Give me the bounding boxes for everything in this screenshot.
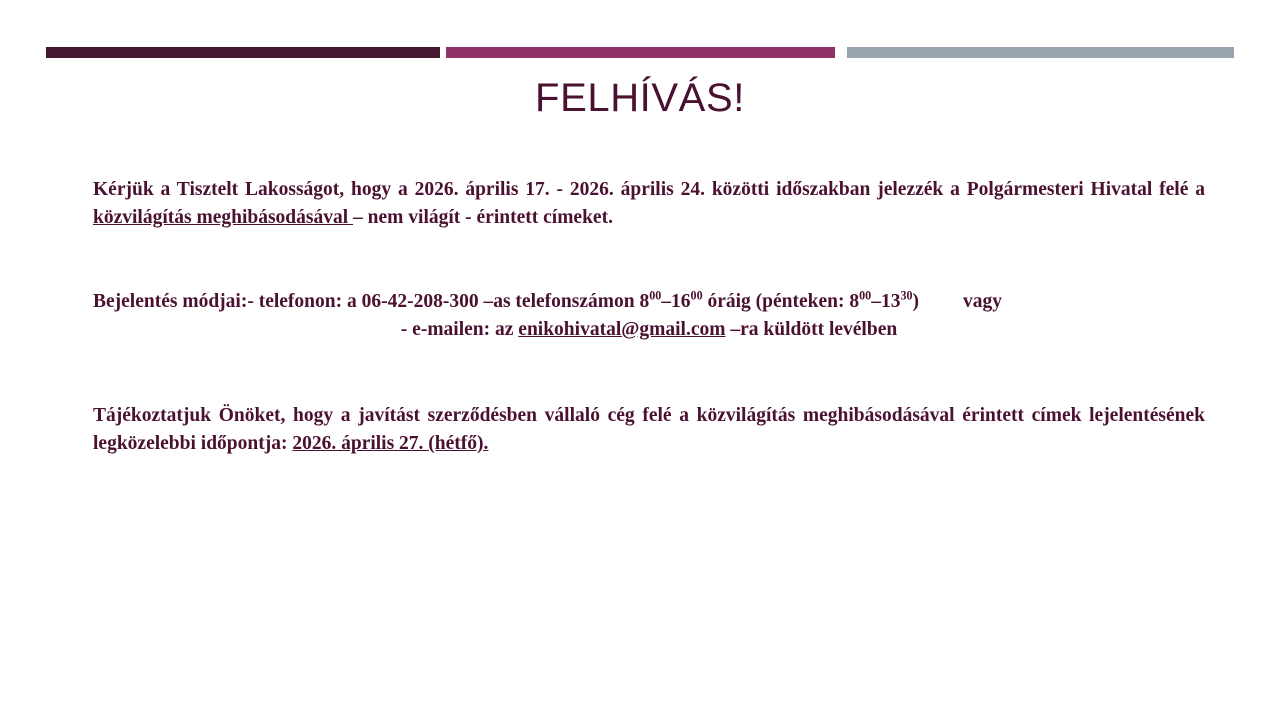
paragraph-spacer-1 (93, 232, 1205, 288)
page-title: FELHÍVÁS! (0, 74, 1280, 122)
contact-phone-text-e: ) (913, 291, 920, 312)
contact-phone-text-c: óráig (pénteken: 8 (703, 291, 860, 312)
paragraph-contact-phone: Bejelentés módjai:- telefonon: a 06-42-2… (93, 288, 1205, 316)
header-accent-bars (0, 47, 1280, 58)
contact-phone-text-b: –16 (661, 291, 690, 312)
contact-email-text-a: - e-mailen: az (401, 319, 519, 340)
time-superscript-2: 00 (691, 289, 703, 303)
paragraph-spacer-2 (93, 344, 1205, 402)
paragraph-notice-deadline: Tájékoztatjuk Önöket, hogy a javítást sz… (93, 402, 1205, 458)
accent-bar-magenta (446, 47, 835, 58)
email-address-link[interactable]: enikohivatal@gmail.com (518, 319, 725, 340)
paragraph-announcement: Kérjük a Tisztelt Lakosságot, hogy a 202… (93, 176, 1205, 232)
paragraph-announcement-text-b: – nem világít - érintett címeket. (353, 207, 613, 228)
paragraph-announcement-underlined: közvilágítás meghibásodásával (93, 207, 353, 228)
contact-phone-text-d: –13 (871, 291, 900, 312)
contact-conjunction-vagy: vagy (963, 291, 1002, 312)
notice-deadline-text-a: Tájékoztatjuk Önöket, hogy a javítást sz… (93, 405, 1205, 454)
contact-phone-text-a: Bejelentés módjai:- telefonon: a 06-42-2… (93, 291, 649, 312)
slide-body: Kérjük a Tisztelt Lakosságot, hogy a 202… (93, 176, 1205, 458)
paragraph-announcement-text-a: Kérjük a Tisztelt Lakosságot, hogy a 202… (93, 179, 1205, 200)
time-superscript-4: 30 (900, 289, 912, 303)
contact-email-text-b: –ra küldött levélben (725, 319, 897, 340)
time-superscript-3: 00 (859, 289, 871, 303)
accent-bar-dark-plum (46, 47, 440, 58)
paragraph-contact-email: - e-mailen: az enikohivatal@gmail.com –r… (93, 316, 1205, 344)
time-superscript-1: 00 (649, 289, 661, 303)
accent-bar-gray-blue (847, 47, 1234, 58)
notice-deadline-date: 2026. április 27. (hétfő). (292, 433, 488, 454)
